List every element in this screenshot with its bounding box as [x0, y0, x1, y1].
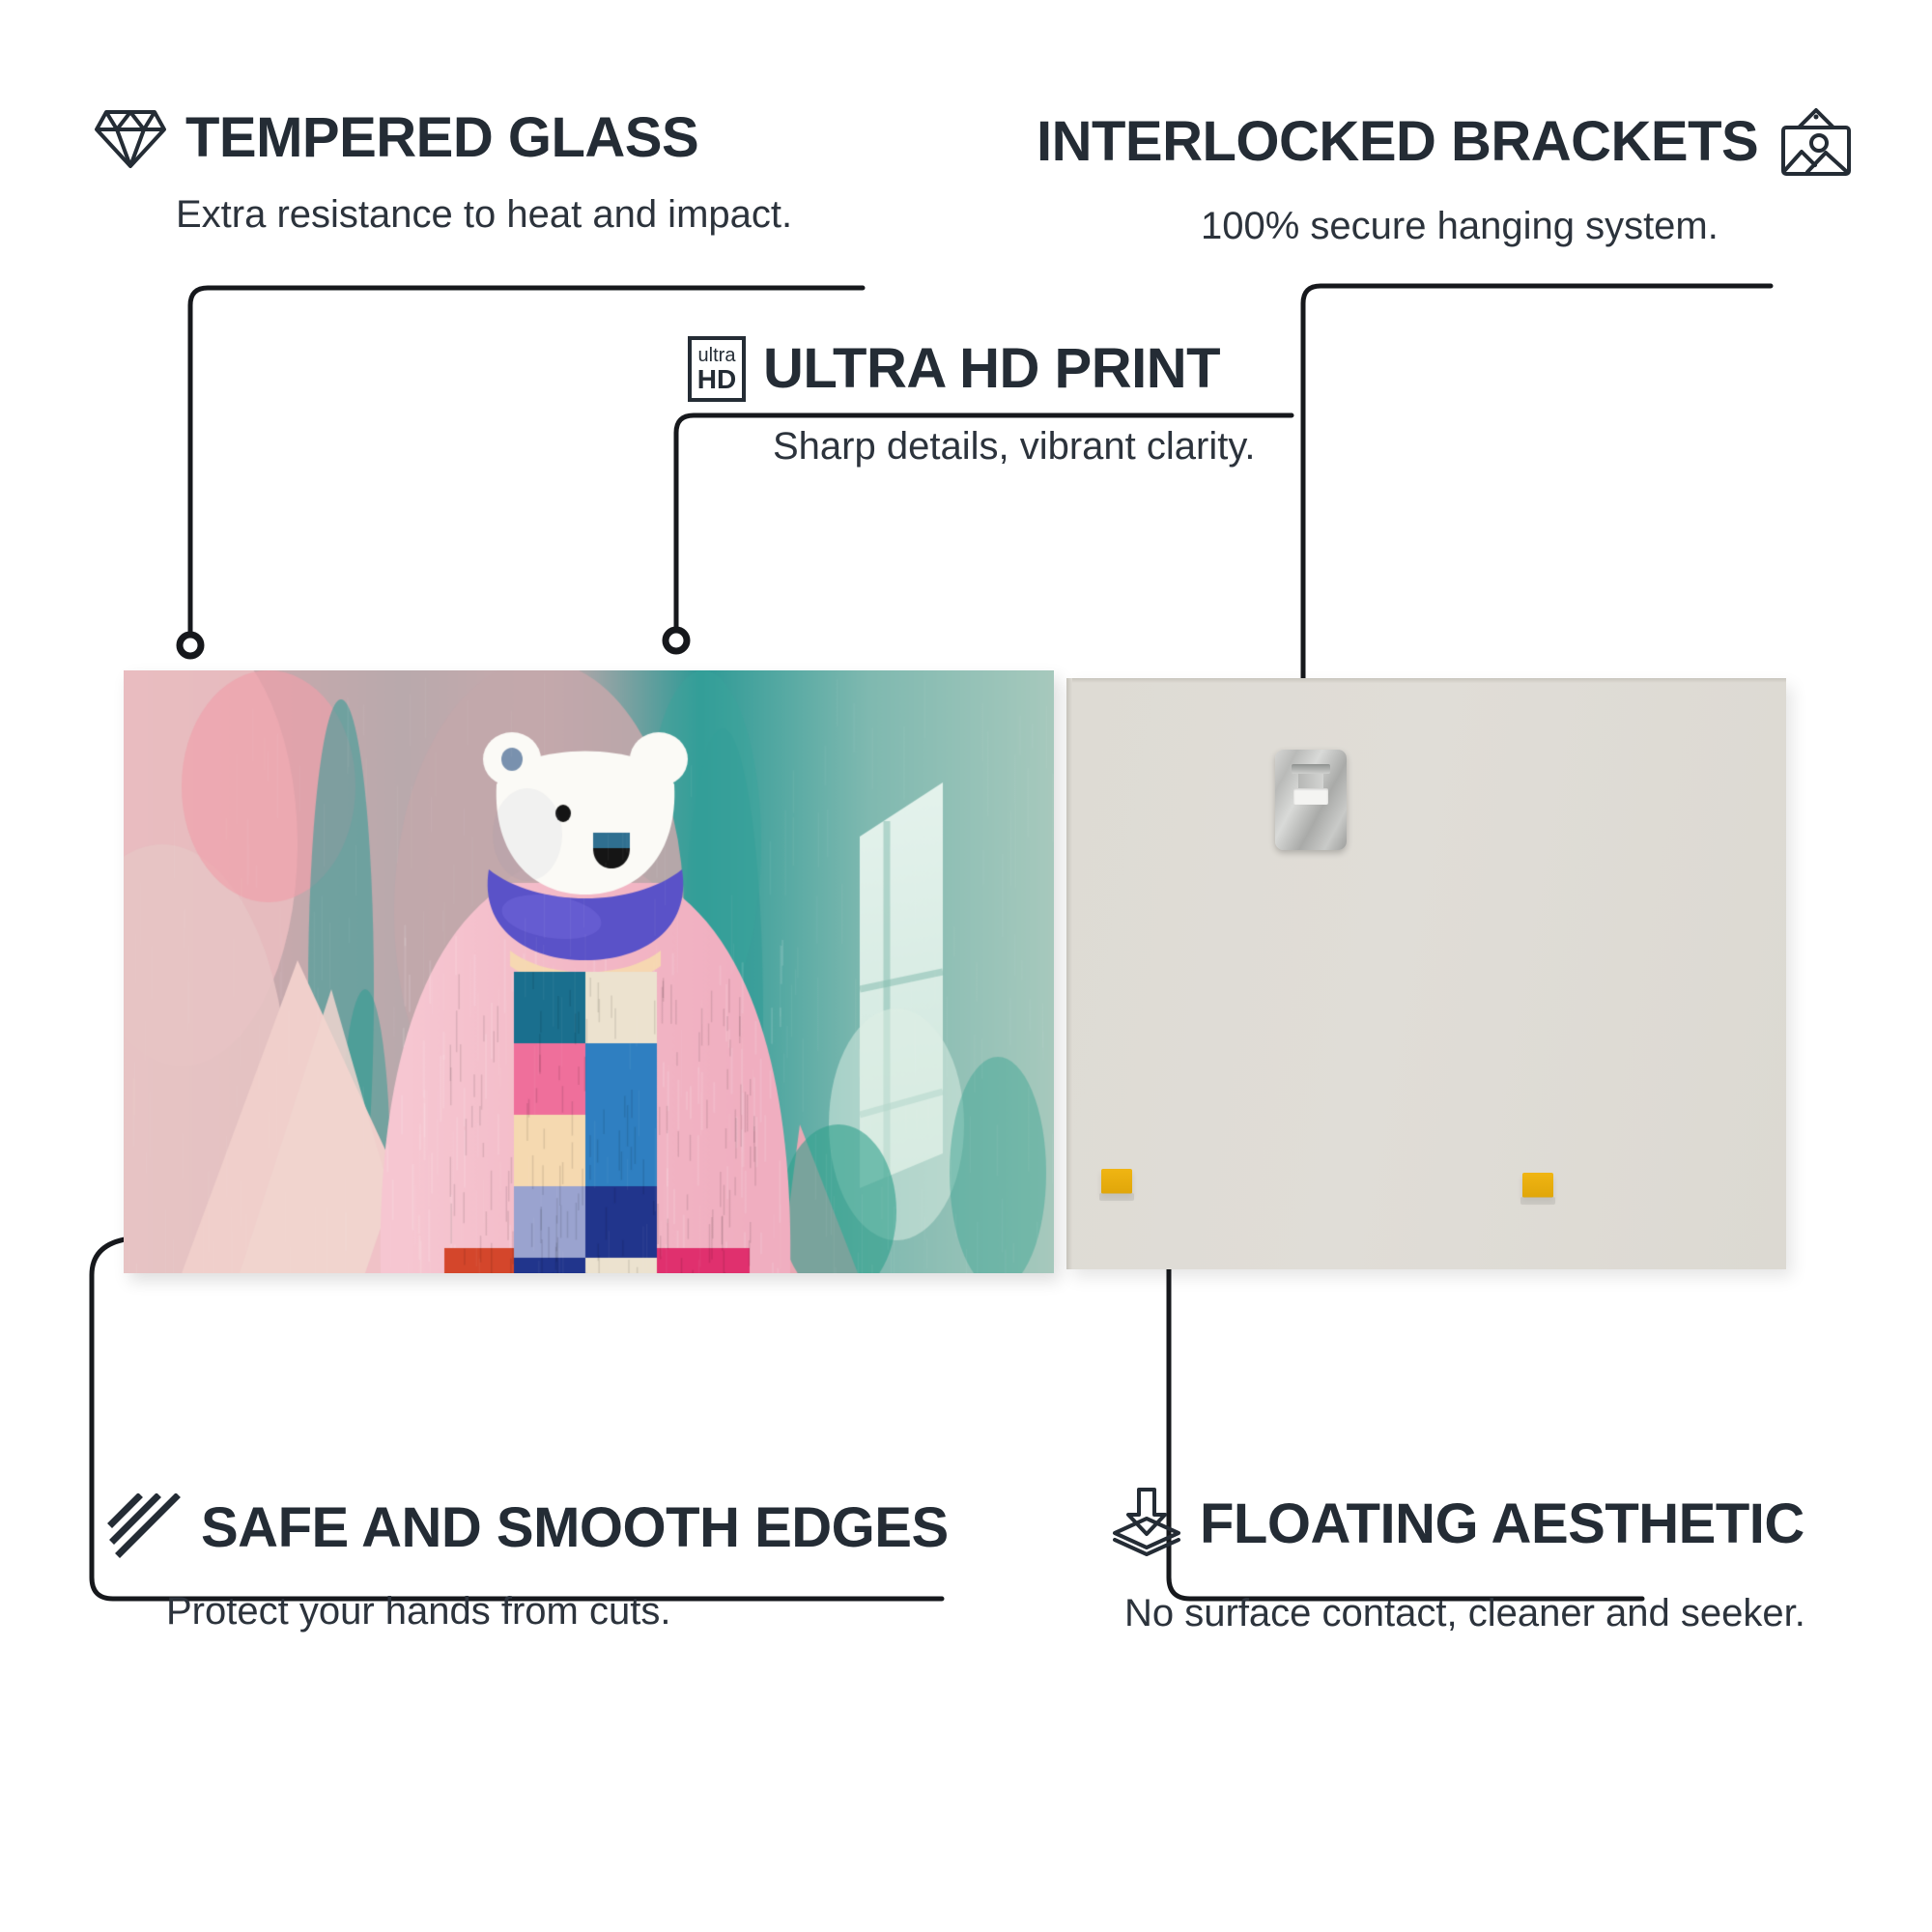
feature-subtitle: 100% secure hanging system. — [1201, 205, 1857, 247]
feature-safe-and-smooth-edges: SAFE AND SMOOTH EDGES Protect your hands… — [106, 1493, 949, 1633]
bracket-slot-top — [1292, 764, 1330, 774]
feature-subtitle: No surface contact, cleaner and seeker. — [1124, 1592, 1805, 1634]
leader-endpoint-ultra-hd — [666, 630, 687, 651]
feature-title: ULTRA HD PRINT — [763, 341, 1220, 397]
feature-subtitle: Sharp details, vibrant clarity. — [773, 425, 1255, 468]
bracket-keyhole — [1293, 788, 1328, 805]
hd-badge-bottom-text: HD — [697, 366, 736, 393]
printed-glass-front — [124, 670, 1054, 1273]
ultra-hd-badge-icon: ultra HD — [688, 336, 746, 402]
feature-heading-row: INTERLOCKED BRACKETS — [1037, 104, 1857, 180]
hatched-edge-icon — [106, 1493, 184, 1563]
leader-endpoint-tempered-glass — [180, 635, 201, 656]
feature-title: FLOATING AESTHETIC — [1200, 1496, 1804, 1552]
interlocked-bracket-plate — [1275, 750, 1347, 850]
hd-badge-top-text: ultra — [698, 346, 736, 365]
feature-floating-aesthetic: FLOATING AESTHETIC No surface contact, c… — [1111, 1486, 1805, 1634]
feature-ultra-hd-print: ultra HD ULTRA HD PRINT Sharp details, v… — [688, 336, 1255, 468]
hanging-picture-icon — [1776, 104, 1857, 180]
diamond-icon — [93, 104, 168, 172]
feature-interlocked-brackets: INTERLOCKED BRACKETS 100% secure hanging… — [1037, 104, 1857, 247]
feature-subtitle: Extra resistance to heat and impact. — [176, 193, 792, 236]
feature-tempered-glass: TEMPERED GLASS Extra resistance to heat … — [93, 104, 792, 236]
infographic-root: TEMPERED GLASS Extra resistance to heat … — [0, 0, 1932, 1932]
spacer-pad-right — [1522, 1173, 1553, 1198]
feature-heading-row: ultra HD ULTRA HD PRINT — [688, 336, 1255, 402]
feature-heading-row: SAFE AND SMOOTH EDGES — [106, 1493, 949, 1563]
feature-title: SAFE AND SMOOTH EDGES — [201, 1500, 949, 1556]
feature-heading-row: TEMPERED GLASS — [93, 104, 792, 172]
feature-subtitle: Protect your hands from cuts. — [166, 1590, 949, 1633]
artwork-canvas — [124, 670, 1054, 1273]
spacer-pad-left — [1101, 1169, 1132, 1194]
glass-back-panel — [1066, 678, 1786, 1269]
arrow-onto-layers-icon — [1111, 1486, 1182, 1563]
feature-title: TEMPERED GLASS — [185, 110, 698, 166]
leader-interlocked — [1303, 286, 1771, 705]
feature-heading-row: FLOATING AESTHETIC — [1111, 1486, 1805, 1563]
feature-title: INTERLOCKED BRACKETS — [1037, 114, 1758, 170]
